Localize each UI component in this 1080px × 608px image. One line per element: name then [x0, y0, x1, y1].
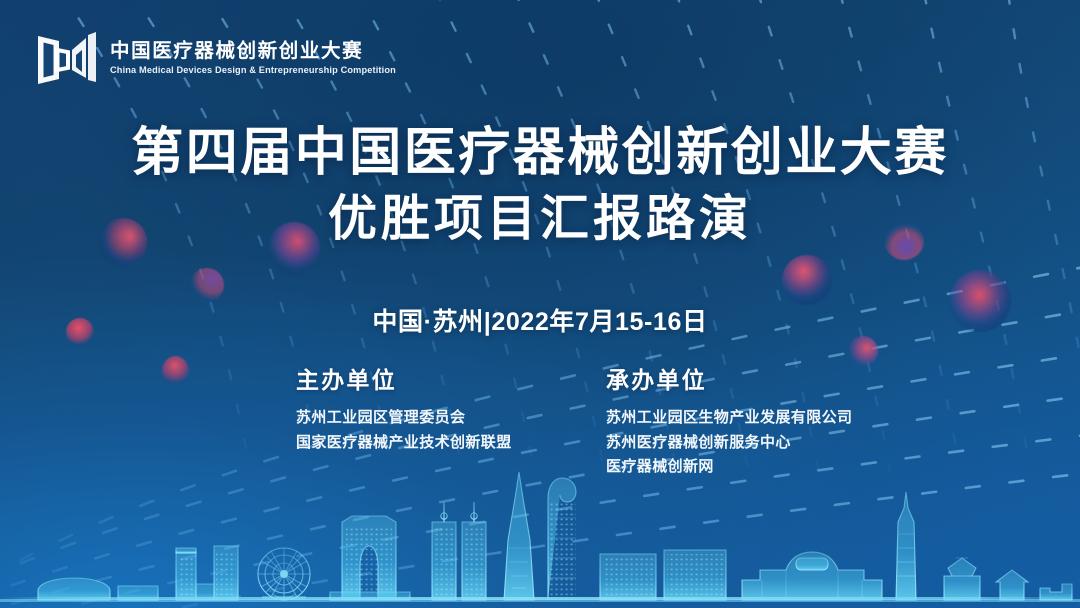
organizer-item: 苏州医疗器械创新服务中心: [606, 431, 936, 455]
competition-logo: 中国医疗器械创新创业大赛 China Medical Devices Desig…: [36, 30, 408, 86]
event-poster: 中国医疗器械创新创业大赛 China Medical Devices Desig…: [0, 0, 1080, 608]
open-door-logo-icon: [36, 30, 98, 86]
logo-title-cn: 中国医疗器械创新创业大赛: [110, 40, 408, 62]
suzhou-city-skyline: [0, 458, 1080, 608]
organizer-heading: 承办单位: [606, 368, 936, 393]
organizer-item: 苏州工业园区生物产业发展有限公司: [606, 406, 936, 430]
organizer-heading: 主办单位: [296, 368, 606, 393]
logo-title-en: China Medical Devices Design & Entrepren…: [110, 65, 396, 77]
organizer-item: 国家医疗器械产业技术创新联盟: [296, 431, 606, 455]
poster-title: 第四届中国医疗器械创新创业大赛 优胜项目汇报路演: [0, 124, 1080, 247]
title-line-1: 第四届中国医疗器械创新创业大赛: [0, 124, 1080, 182]
event-location-date: 中国·苏州|2022年7月15-16日: [0, 302, 1080, 338]
organizer-item: 苏州工业园区管理委员会: [296, 406, 606, 430]
skyline-baseline: [0, 597, 1080, 600]
title-line-2: 优胜项目汇报路演: [0, 193, 1080, 247]
